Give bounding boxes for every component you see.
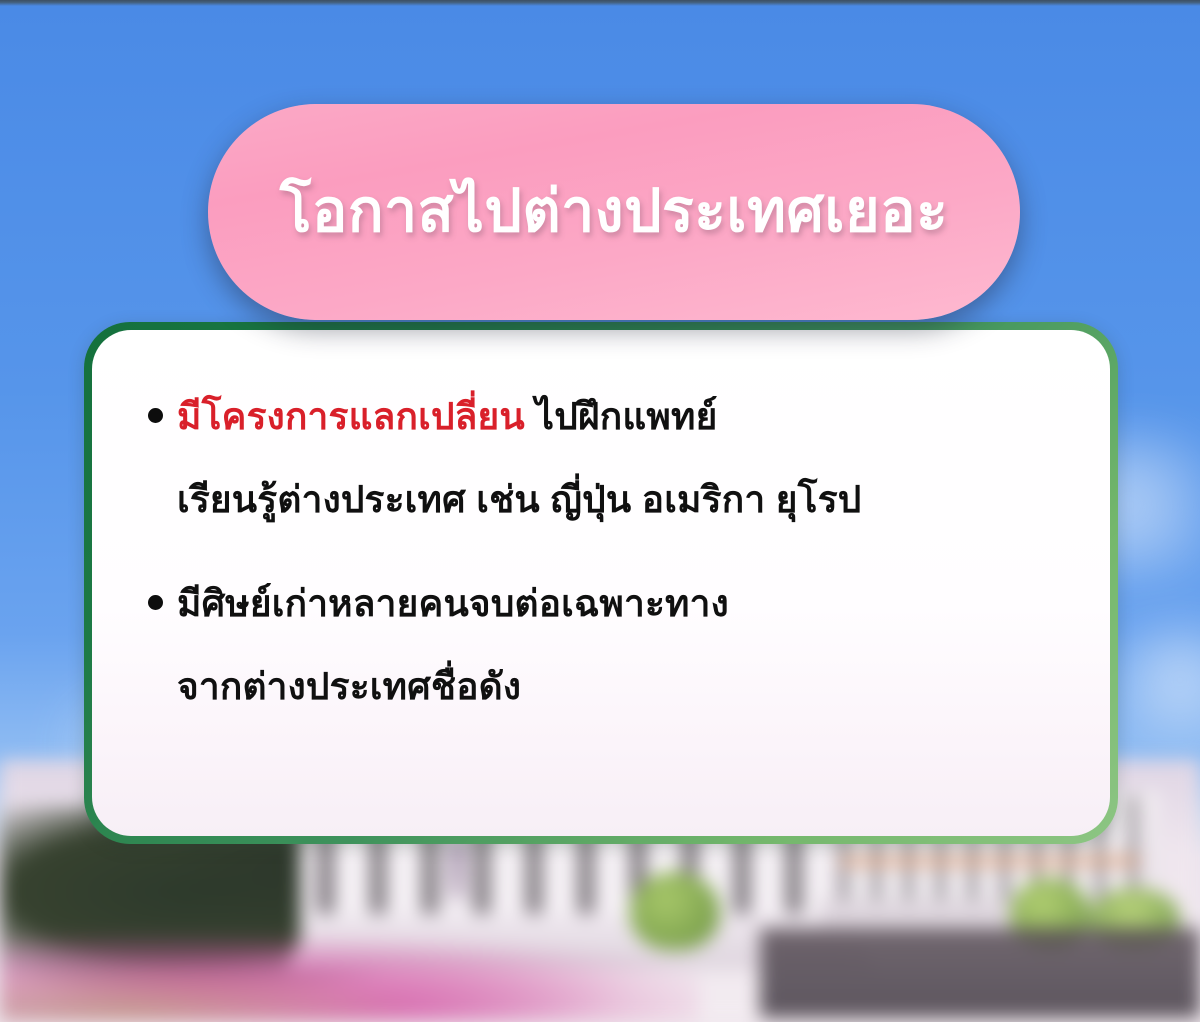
bullet-text-line: มีศิษย์เก่าหลายคนจบต่อเฉพาะทาง bbox=[177, 575, 729, 632]
line-gap bbox=[148, 449, 1054, 471]
bullet-dot-icon bbox=[148, 408, 163, 423]
block-gap bbox=[148, 535, 1054, 575]
bullet-text-line: มีโครงการแลกเปลี่ยน ไปฝึกแพทย์ bbox=[177, 388, 718, 445]
info-card: มีโครงการแลกเปลี่ยน ไปฝึกแพทย์ เรียนรู้ต… bbox=[84, 322, 1118, 844]
grass-patch bbox=[0, 962, 420, 1022]
highlighted-phrase: มีโครงการแลกเปลี่ยน bbox=[177, 396, 525, 437]
person-figure bbox=[448, 838, 466, 900]
shadowed-foreground bbox=[760, 928, 1200, 1018]
title-pill: โอกาสไปต่างประเทศเยอะ bbox=[208, 104, 1020, 320]
right-building-awning bbox=[840, 856, 1140, 866]
bullet-item-1: มีโครงการแลกเปลี่ยน ไปฝึกแพทย์ เรียนรู้ต… bbox=[148, 388, 1054, 529]
page-title: โอกาสไปต่างประเทศเยอะ bbox=[240, 176, 989, 248]
bullet-first-line: มีศิษย์เก่าหลายคนจบต่อเฉพาะทาง bbox=[148, 575, 1054, 632]
top-edge-shade bbox=[0, 0, 1200, 6]
bullet-second-line: เรียนรู้ต่างประเทศ เช่น ญี่ปุ่น อเมริกา … bbox=[148, 471, 1054, 528]
bullet-second-line: จากต่างประเทศชื่อดัง bbox=[148, 658, 1054, 715]
bullet-first-line: มีโครงการแลกเปลี่ยน ไปฝึกแพทย์ bbox=[148, 388, 1054, 445]
bullet-item-2: มีศิษย์เก่าหลายคนจบต่อเฉพาะทาง จากต่างปร… bbox=[148, 575, 1054, 716]
poster-root: มีโครงการแลกเปลี่ยน ไปฝึกแพทย์ เรียนรู้ต… bbox=[0, 0, 1200, 1022]
bullet-dot-icon bbox=[148, 595, 163, 610]
info-card-body: มีโครงการแลกเปลี่ยน ไปฝึกแพทย์ เรียนรู้ต… bbox=[92, 330, 1110, 836]
bullet-text-rest: ไปฝึกแพทย์ bbox=[525, 396, 718, 437]
line-gap bbox=[148, 636, 1054, 658]
